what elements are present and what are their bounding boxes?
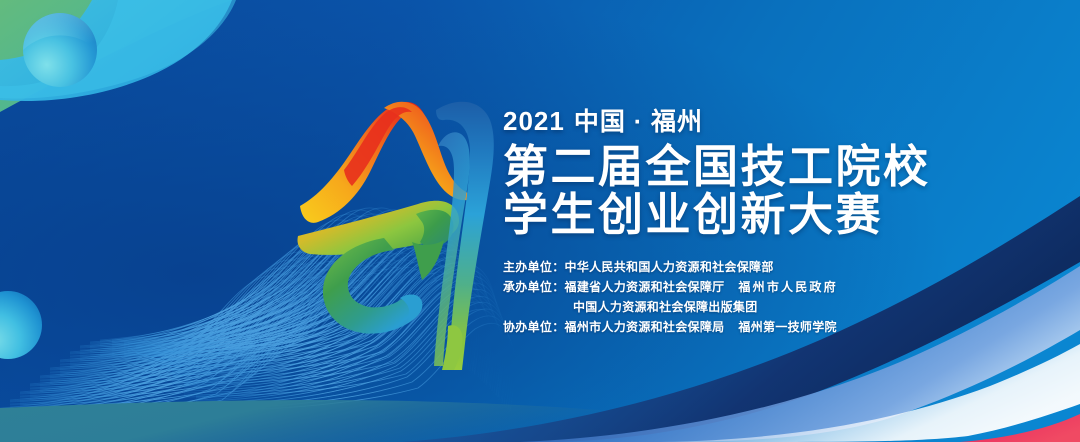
year-location-line: 2021中国 · 福州 <box>503 108 963 135</box>
organizer-row: 承办单位：福建省人力资源和社会保障厅福州市人民政府 <box>503 277 963 297</box>
organizer-row: 协办单位：福州市人力资源和社会保障局福州第一技师学院 <box>503 317 963 337</box>
organizer-entity: 福建省人力资源和社会保障厅 <box>565 280 725 294</box>
title-line-2: 学生创业创新大赛 <box>503 192 963 238</box>
title-line-1: 第二届全国技工院校 <box>503 144 963 190</box>
organizer-label: 协办单位： <box>503 320 565 334</box>
organizer-row: 主办单位：中华人民共和国人力资源和社会保障部 <box>503 257 963 277</box>
organizer-entity: 福州市人民政府 <box>738 280 837 294</box>
location-text: 中国 · 福州 <box>574 108 703 136</box>
event-banner: 2021中国 · 福州 第二届全国技工院校 学生创业创新大赛 主办单位：中华人民… <box>0 0 1080 442</box>
year-text: 2021 <box>503 106 565 136</box>
contest-logo <box>288 86 503 371</box>
organizer-entity: 中华人民共和国人力资源和社会保障部 <box>565 260 774 274</box>
organizer-row: 中国人力资源和社会保障出版集团 <box>503 297 963 317</box>
organizer-label: 承办单位： <box>503 280 565 294</box>
organizer-label: 主办单位： <box>503 260 565 274</box>
banner-text-block: 2021中国 · 福州 第二届全国技工院校 学生创业创新大赛 主办单位：中华人民… <box>503 108 963 337</box>
organizer-entity: 福州市人力资源和社会保障局 <box>565 320 725 334</box>
organizer-entity: 中国人力资源和社会保障出版集团 <box>573 300 758 314</box>
organizer-entity: 福州第一技师学院 <box>738 320 836 334</box>
organizers-block: 主办单位：中华人民共和国人力资源和社会保障部 承办单位：福建省人力资源和社会保障… <box>503 257 963 337</box>
